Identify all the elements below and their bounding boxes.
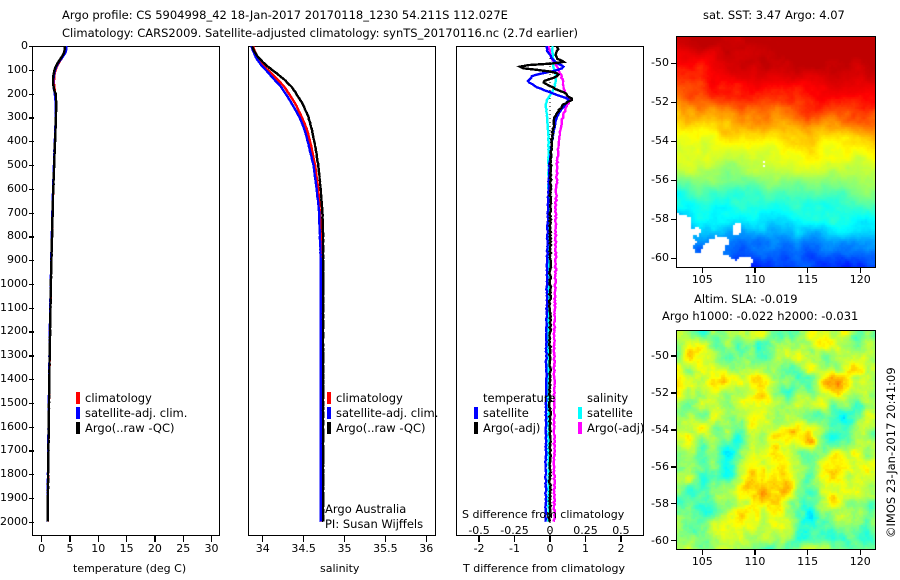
depth-tick-label: 1300 (0, 348, 28, 361)
map-tick-mark (671, 355, 676, 356)
legend-item: satellite-adj. clim. (327, 405, 438, 420)
axis-tick-label: -0.25 (495, 524, 535, 537)
map-tick-mark (671, 540, 676, 541)
map-tick-mark (671, 141, 676, 142)
depth-tick-label: 500 (7, 158, 28, 171)
legend-item: Argo(-adj) (474, 420, 555, 435)
depth-tick-label: 1600 (0, 420, 28, 433)
legend-item: Argo(..raw -QC) (76, 420, 187, 435)
legend-item: satellite (578, 405, 644, 420)
map-xtick-label: 110 (737, 555, 773, 568)
difference-legend-temperature: temperature satellite Argo(-adj) (474, 392, 555, 435)
map-xtick-label: 115 (790, 555, 826, 568)
sla-map-image (677, 331, 876, 550)
map-ytick-label: -50 (651, 56, 669, 69)
map-ytick-label: -52 (651, 386, 669, 399)
imos-credit-text: ©IMOS 23-Jan-2017 20:41:09 (884, 367, 898, 538)
depth-tick-label: 1100 (0, 301, 28, 314)
map-ytick-label: -60 (651, 251, 669, 264)
salinity-xaxis-ticks: 3434.53535.536 (248, 536, 436, 554)
map-xtick-label: 110 (737, 273, 773, 286)
difference-curves (456, 46, 644, 536)
map-ytick-label: -58 (651, 497, 669, 510)
map-tick-mark (671, 63, 676, 64)
legend-label: climatology (336, 392, 403, 404)
legend-swatch-satellite (474, 407, 478, 419)
depth-tick-label: 1200 (0, 324, 28, 337)
difference-legend-salinity: salinity satellite Argo(-adj) (578, 392, 644, 435)
depth-tick-label: 1700 (0, 443, 28, 456)
difference-xaxis-ticks-bottom: -2-1012 (456, 536, 644, 554)
legend-item: Argo(-adj) (578, 420, 644, 435)
depth-tick-label: 900 (7, 253, 28, 266)
legend-label: satellite (483, 407, 529, 419)
legend-swatch-argo-adj (474, 422, 478, 434)
difference-xaxis-label-top: S difference from climatology (462, 508, 624, 521)
axis-tick-label: 0 (530, 524, 570, 537)
temperature-legend: climatology satellite-adj. clim. Argo(..… (76, 390, 187, 435)
map-tick-mark (671, 429, 676, 430)
map-ytick-label: -60 (651, 534, 669, 547)
map-tick-mark (671, 102, 676, 103)
sst-map-image (677, 37, 876, 268)
salinity-legend: climatology satellite-adj. clim. Argo(..… (327, 390, 438, 435)
imos-credit: ©IMOS 23-Jan-2017 20:41:09 (884, 538, 900, 552)
map-ytick-label: -50 (651, 349, 669, 362)
temperature-xaxis-ticks: 051015202530 (32, 536, 220, 554)
sst-map-xaxis-ticks: 105110115120 (676, 268, 876, 284)
legend-item: climatology (327, 390, 438, 405)
legend-item: satellite-adj. clim. (76, 405, 187, 420)
depth-tick-label: 200 (7, 87, 28, 100)
depth-tick-label: 2000 (0, 515, 28, 528)
sla-map-title-line1: Altim. SLA: -0.019 (694, 292, 798, 306)
sst-map-yaxis-ticks: -50-52-54-56-58-60 (636, 36, 676, 268)
legend-label: Argo(..raw -QC) (336, 422, 426, 434)
depth-tick-label: 1000 (0, 277, 28, 290)
map-ytick-label: -58 (651, 212, 669, 225)
legend-label: Argo(-adj) (483, 422, 540, 434)
legend-swatch-argo-raw (76, 422, 80, 434)
map-xtick-label: 105 (684, 555, 720, 568)
axis-tick-label: 0.25 (565, 524, 605, 537)
attribution-org: Argo Australia (325, 502, 423, 517)
depth-tick-label: 700 (7, 206, 28, 219)
attribution-pi: PI: Susan Wijffels (325, 517, 423, 532)
map-tick-mark (671, 503, 676, 504)
sla-map-frame (676, 330, 876, 550)
legend-item: satellite (474, 405, 555, 420)
sst-map-frame (676, 36, 876, 268)
map-xtick-label: 120 (842, 273, 878, 286)
legend-item: climatology (76, 390, 187, 405)
legend-swatch-argo-raw (327, 422, 331, 434)
temperature-xaxis-label: temperature (deg C) (73, 562, 186, 575)
legend-group-title-temperature: temperature (483, 392, 555, 405)
axis-tick-label: 0.5 (601, 524, 641, 537)
legend-label: climatology (85, 392, 152, 404)
map-ytick-label: -54 (651, 134, 669, 147)
legend-item: Argo(..raw -QC) (327, 420, 438, 435)
legend-swatch-argo-adj (578, 422, 582, 434)
depth-tick-label: 800 (7, 229, 28, 242)
map-tick-mark (671, 258, 676, 259)
depth-axis: 0100200300400500600700800900100011001200… (0, 46, 34, 536)
difference-xaxis-label-bottom: T difference from climatology (463, 562, 625, 575)
depth-tick-label: 0 (21, 39, 28, 52)
page-title-line2: Climatology: CARS2009. Satellite-adjuste… (62, 26, 578, 40)
depth-tick-label: 400 (7, 134, 28, 147)
legend-swatch-satellite-adj (327, 407, 331, 419)
salinity-xaxis-label: salinity (320, 562, 359, 575)
legend-label: satellite-adj. clim. (336, 407, 438, 419)
depth-tick-label: 1500 (0, 396, 28, 409)
map-tick-mark (671, 180, 676, 181)
depth-tick-label: 600 (7, 182, 28, 195)
temperature-curves (32, 46, 220, 536)
map-xtick-label: 120 (842, 555, 878, 568)
map-xtick-label: 105 (684, 273, 720, 286)
map-tick-mark (671, 466, 676, 467)
legend-label: satellite (587, 407, 633, 419)
legend-swatch-climatology (76, 392, 80, 404)
depth-tick-label: 1900 (0, 491, 28, 504)
legend-label: satellite-adj. clim. (85, 407, 187, 419)
legend-swatch-satellite (578, 407, 582, 419)
map-ytick-label: -56 (651, 460, 669, 473)
depth-tick-label: 1400 (0, 372, 28, 385)
sst-map-title: sat. SST: 3.47 Argo: 4.07 (703, 8, 845, 22)
map-ytick-label: -54 (651, 423, 669, 436)
depth-tick-label: 300 (7, 110, 28, 123)
sla-map-xaxis-ticks: 105110115120 (676, 550, 876, 566)
legend-label: Argo(..raw -QC) (85, 422, 175, 434)
sla-map-yaxis-ticks: -50-52-54-56-58-60 (636, 330, 676, 550)
map-xtick-label: 115 (790, 273, 826, 286)
page-title-line1: Argo profile: CS 5904998_42 18-Jan-2017 … (62, 8, 508, 22)
map-ytick-label: -52 (651, 95, 669, 108)
salinity-curves (248, 46, 436, 536)
attribution-block: Argo Australia PI: Susan Wijffels (325, 502, 423, 532)
map-ytick-label: -56 (651, 173, 669, 186)
sla-map-title-line2: Argo h1000: -0.022 h2000: -0.031 (662, 309, 858, 323)
map-tick-mark (671, 392, 676, 393)
legend-swatch-satellite-adj (76, 407, 80, 419)
map-tick-mark (671, 219, 676, 220)
depth-tick-label: 1800 (0, 467, 28, 480)
difference-xaxis-ticks-top: -0.5-0.2500.250.5 (456, 524, 644, 538)
axis-tick-label: -0.5 (459, 524, 499, 537)
depth-tick-label: 100 (7, 63, 28, 76)
legend-swatch-climatology (327, 392, 331, 404)
